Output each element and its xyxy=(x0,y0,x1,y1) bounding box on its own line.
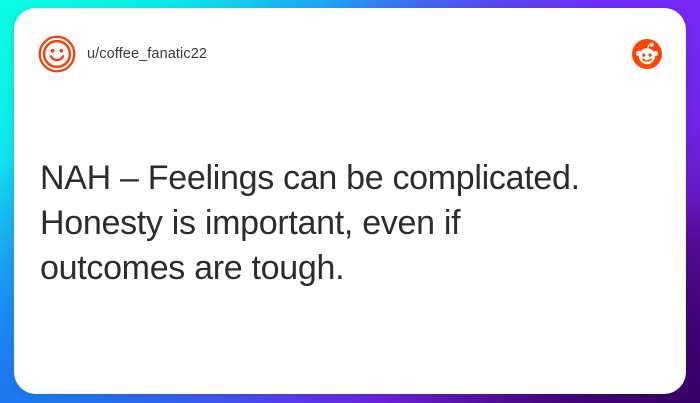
post-body: NAH – Feelings can be complicated. Hones… xyxy=(40,156,646,291)
post-header: u/coffee_fanatic22 xyxy=(14,8,686,100)
smiley-face-avatar-icon[interactable] xyxy=(38,35,76,73)
post-card: u/coffee_fanatic22 NAH – Feelings can be… xyxy=(14,8,686,394)
screenshot-canvas: u/coffee_fanatic22 NAH – Feelings can be… xyxy=(0,0,700,403)
reddit-snoo-logo-icon[interactable] xyxy=(632,39,662,69)
username-label: u/coffee_fanatic22 xyxy=(87,46,207,62)
post-text: NAH – Feelings can be complicated. Hones… xyxy=(40,156,646,291)
user-identity-block[interactable]: u/coffee_fanatic22 xyxy=(38,35,207,73)
